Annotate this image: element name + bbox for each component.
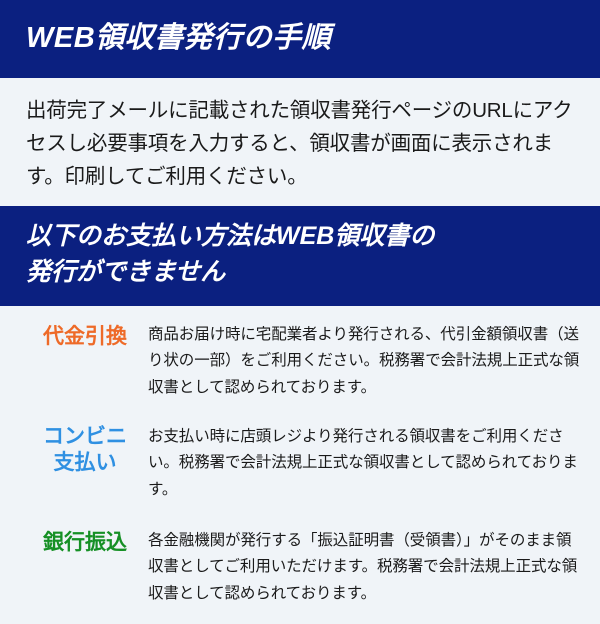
payment-methods-list: 代金引換 商品お届け時に宅配業者より発行される、代引金額領収書（送り状の一部）を… — [0, 306, 600, 624]
notice-heading-line-2: 発行ができません — [26, 258, 225, 286]
page-title: WEB領収書発行の手順 — [26, 23, 331, 55]
payment-method-row: 代金引換 商品お届け時に宅配業者より発行される、代引金額領収書（送り状の一部）を… — [0, 322, 600, 418]
intro-paragraph: 出荷完了メールに記載された領収書発行ページのURLにアクセスし必要事項を入力する… — [26, 94, 576, 194]
payment-method-description-text: お支払い時に店頭レジより発行される領収書をご利用ください。税務署で会計法規上正式… — [148, 424, 582, 504]
payment-method-label-line: コンビニ — [26, 424, 144, 450]
payment-method-label-bank-transfer: 銀行振込 — [26, 528, 144, 556]
notice-heading-line-1: 以下のお支払い方法はWEB領収書の — [26, 222, 434, 250]
notice-header-band: 以下のお支払い方法はWEB領収書の 発行ができません — [0, 206, 600, 306]
payment-method-description-text: 商品お届け時に宅配業者より発行される、代引金額領収書（送り状の一部）をご利用くだ… — [148, 322, 582, 402]
page-header-band: WEB領収書発行の手順 — [0, 0, 600, 78]
payment-method-row: コンビニ 支払い お支払い時に店頭レジより発行される領収書をご利用ください。税務… — [0, 424, 600, 520]
payment-method-description-text: 各金融機関が発行する「振込証明書（受領書）」がそのまま領収書としてご利用いただけ… — [148, 528, 582, 608]
payment-method-description: 商品お届け時に宅配業者より発行される、代引金額領収書（送り状の一部）をご利用くだ… — [144, 322, 582, 402]
payment-method-row: 銀行振込 各金融機関が発行する「振込証明書（受領書）」がそのまま領収書としてご利… — [0, 528, 600, 624]
payment-method-label-line: 代金引換 — [26, 324, 144, 350]
notice-heading: 以下のお支払い方法はWEB領収書の 発行ができません — [26, 219, 580, 290]
payment-method-description: お支払い時に店頭レジより発行される領収書をご利用ください。税務署で会計法規上正式… — [144, 424, 582, 504]
payment-method-label-convenience-store: コンビニ 支払い — [26, 424, 144, 477]
payment-method-description: 各金融機関が発行する「振込証明書（受領書）」がそのまま領収書としてご利用いただけ… — [144, 528, 582, 608]
payment-method-label-line: 銀行振込 — [26, 530, 144, 556]
intro-section: 出荷完了メールに記載された領収書発行ページのURLにアクセスし必要事項を入力する… — [0, 78, 600, 206]
payment-method-label-line: 支払い — [26, 450, 144, 476]
receipt-info-page: WEB領収書発行の手順 出荷完了メールに記載された領収書発行ページのURLにアク… — [0, 0, 600, 600]
payment-method-label-cash-on-delivery: 代金引換 — [26, 322, 144, 350]
